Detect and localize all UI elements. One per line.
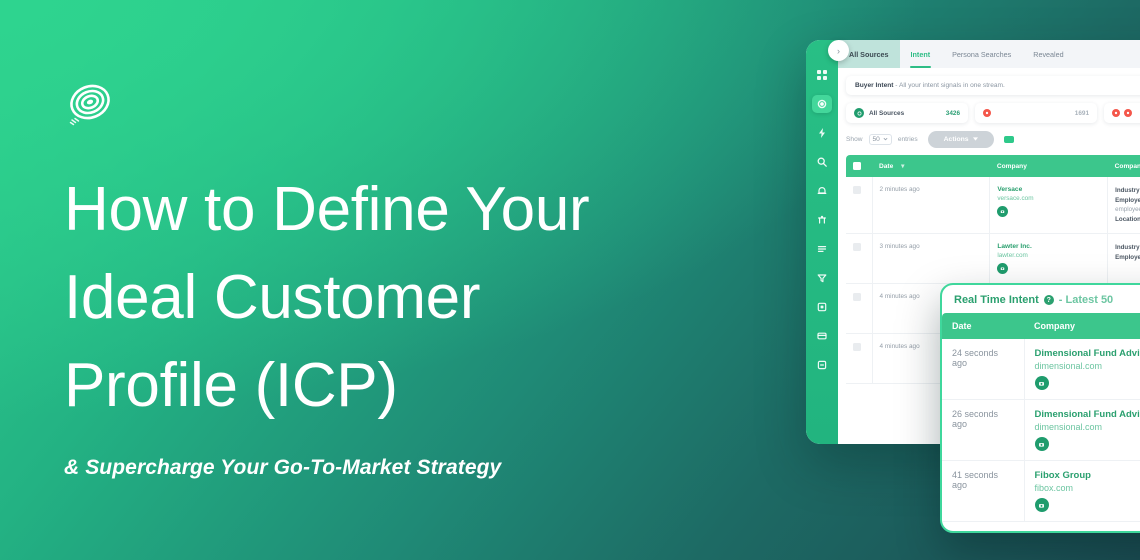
sidebar-item-alerts[interactable] [812,182,832,200]
stat-label: All Sources [869,110,904,117]
dashboard-grid-icon [817,70,827,80]
list-item[interactable]: 26 seconds ago Dimensional Fund Advisors… [942,400,1140,461]
detail-line: Industry : Apparel & Fashion [1115,186,1140,196]
stat-card-signal-1[interactable]: 1691 [975,103,1097,123]
actions-button[interactable]: Actions [928,131,994,148]
sidebar-item-saved[interactable] [812,298,832,316]
row-date: 41 seconds ago [942,461,1024,522]
row-details: Industry : Chemicals Employee Range: 501… [1108,234,1140,284]
row-company: Lawter Inc. lawter.com [990,234,1108,284]
company-name: Fibox Group [1035,470,1140,481]
tab-bar: All Sources Intent Persona Searches Reve… [838,40,1140,68]
company-domain[interactable]: fibox.com [1035,483,1140,493]
detail-label: Industry [1115,187,1139,194]
tab-intent[interactable]: Intent [900,40,942,68]
column-label: Date [952,321,972,331]
stat-value: 1691 [1075,110,1089,117]
caret-down-icon [973,136,978,143]
row-details: Industry : Apparel & Fashion Employee Ra… [1108,177,1140,234]
card-icon [817,331,827,341]
buyer-intent-notice: Buyer Intent - All your intent signals i… [846,76,1140,95]
sidebar-item-lists[interactable] [812,240,832,258]
chevron-down-icon [883,136,888,143]
column-company[interactable]: Company [990,155,1108,177]
row-checkbox-cell[interactable] [846,334,872,384]
stats-row: All Sources 3426 1691 [846,103,1140,123]
tab-label: All Sources [849,50,889,59]
company-name: Dimensional Fund Advisors [1035,348,1140,359]
company-avatar [1035,437,1049,451]
detail-line: Industry : Chemicals [1115,243,1140,253]
checkbox-icon[interactable] [853,343,861,351]
company-avatar [1035,498,1049,512]
list-item[interactable]: 41 seconds ago Fibox Group fibox.com [942,461,1140,522]
row-date: 24 seconds ago [942,339,1024,400]
sidebar-item-automation[interactable] [812,124,832,142]
notice-text: - All your intent signals in one stream. [893,82,1004,89]
tab-label: Persona Searches [952,50,1011,59]
sidebar-item-integrations[interactable] [812,211,832,229]
question-mark-icon[interactable]: ? [1044,295,1054,305]
table-row[interactable]: 2 minutes ago Versace versace.com [846,177,1140,234]
company-name: Lawter Inc. [997,243,1100,250]
company-domain[interactable]: dimensional.com [1035,361,1140,371]
page-title: How to Define Your Ideal Customer Profil… [64,166,704,430]
company-avatar [1035,376,1049,390]
sort-caret-icon[interactable]: ▾ [901,163,904,170]
red-signal-icon [1124,109,1132,117]
tab-revealed[interactable]: Revealed [1022,40,1074,68]
sidebar-collapse-button[interactable]: › [828,40,849,61]
row-company: Dimensional Fund Advisors dimensional.co… [1024,339,1140,400]
table-toolbar: Show 50 entries Actions [846,131,1140,148]
list-item[interactable]: 24 seconds ago Dimensional Fund Advisors… [942,339,1140,400]
column-date[interactable]: Date [942,313,1024,339]
company-name: Dimensional Fund Advisors [1035,409,1140,420]
real-time-latest-label: - Latest 50 [1059,294,1113,306]
tab-label: Intent [911,50,931,59]
company-name: Versace [997,186,1100,193]
sidebar-item-cards[interactable] [812,327,832,345]
column-company-details[interactable]: Company Details [1108,155,1140,177]
company-domain[interactable]: versace.com [997,195,1100,202]
sidebar-item-dashboard[interactable] [812,66,832,84]
chevron-right-icon: › [837,46,840,56]
row-company: Fibox Group fibox.com [1024,461,1140,522]
stat-card-signal-2[interactable]: 496 [1104,103,1140,123]
page-subtitle: & Supercharge Your Go-To-Market Strategy [64,456,704,480]
column-label: Company [1034,321,1075,331]
detail-label: Industry [1115,244,1139,251]
row-date: 26 seconds ago [942,400,1024,461]
filter-funnel-icon [817,273,827,283]
sidebar-item-search[interactable] [812,153,832,171]
spiral-logo-icon [64,78,704,130]
actions-label: Actions [944,136,969,143]
company-domain[interactable]: dimensional.com [1035,422,1140,432]
column-label: Date [879,163,893,170]
column-label: Company Details [1115,163,1140,170]
row-checkbox-cell[interactable] [846,234,872,284]
real-time-table-body: 24 seconds ago Dimensional Fund Advisors… [942,339,1140,522]
company-domain[interactable]: lawter.com [997,252,1100,259]
entries-value: 50 [873,136,880,143]
sidebar-item-filters[interactable] [812,269,832,287]
video-camera-icon[interactable] [1004,136,1014,143]
source-circle-icon [854,108,864,118]
row-company: Dimensional Fund Advisors dimensional.co… [1024,400,1140,461]
bell-alert-icon [817,186,827,196]
entries-label: entries [898,136,918,143]
column-label: Company [997,163,1027,170]
column-company[interactable]: Company [1024,313,1140,339]
detail-label: Employee Range: [1115,197,1140,204]
detail-label: Employee Range: [1115,254,1140,261]
checkbox-icon[interactable] [853,243,861,251]
checkbox-icon[interactable] [853,293,861,301]
column-date[interactable]: Date ▾ [872,155,990,177]
detail-line: Employee Range: 1001-5000 employees [1115,196,1140,215]
network-nodes-icon [817,215,827,225]
table-header-row: Date Company [942,313,1140,339]
detail-line: Location: Italy, Milan [1115,215,1140,225]
real-time-intent-card: Real Time Intent ? - Latest 50 Date Comp… [940,283,1140,533]
row-company: Versace versace.com [990,177,1108,234]
sidebar-item-intent[interactable] [812,95,832,113]
table-header: Date ▾ Company Company Details [846,155,1140,177]
sidebar-item-exports[interactable] [812,356,832,374]
save-square-icon [817,302,827,312]
stat-value: 3426 [946,110,960,117]
company-avatar [997,263,1008,274]
tab-persona-searches[interactable]: Persona Searches [941,40,1022,68]
checkbox-icon[interactable] [853,186,861,194]
search-icon [817,157,827,167]
real-time-table-header: Date Company [942,313,1140,339]
lightning-bolt-icon [817,128,827,138]
row-date: 3 minutes ago [872,234,990,284]
table-row[interactable]: 3 minutes ago Lawter Inc. lawter.com [846,234,1140,284]
app-sidebar [806,40,838,444]
show-label: Show [846,136,863,143]
hero-content: How to Define Your Ideal Customer Profil… [64,78,704,480]
row-date: 2 minutes ago [872,177,990,234]
table-header-row: Date ▾ Company Company Details [846,155,1140,177]
red-signal-icon [1112,109,1120,117]
box-icon [817,360,827,370]
detail-line: Employee Range: 501-1000 [1115,253,1140,263]
real-time-table: Date Company 24 seconds ago Dimensional … [942,313,1140,522]
intent-target-icon [817,99,827,109]
stat-card-all-sources[interactable]: All Sources 3426 [846,103,968,123]
row-checkbox-cell[interactable] [846,177,872,234]
tab-label: Revealed [1033,50,1063,59]
notice-title: Buyer Intent [855,82,893,89]
row-checkbox-cell[interactable] [846,284,872,334]
checkbox-icon[interactable] [853,162,861,170]
red-signal-icon [983,109,991,117]
entries-select[interactable]: 50 [869,134,892,145]
select-all-header[interactable] [846,155,872,177]
real-time-title: Real Time Intent [954,294,1039,306]
hero-banner: How to Define Your Ideal Customer Profil… [0,0,1140,560]
real-time-header: Real Time Intent ? - Latest 50 [942,285,1140,313]
company-avatar [997,206,1008,217]
list-lines-icon [817,244,827,254]
detail-label: Location: [1115,216,1140,223]
